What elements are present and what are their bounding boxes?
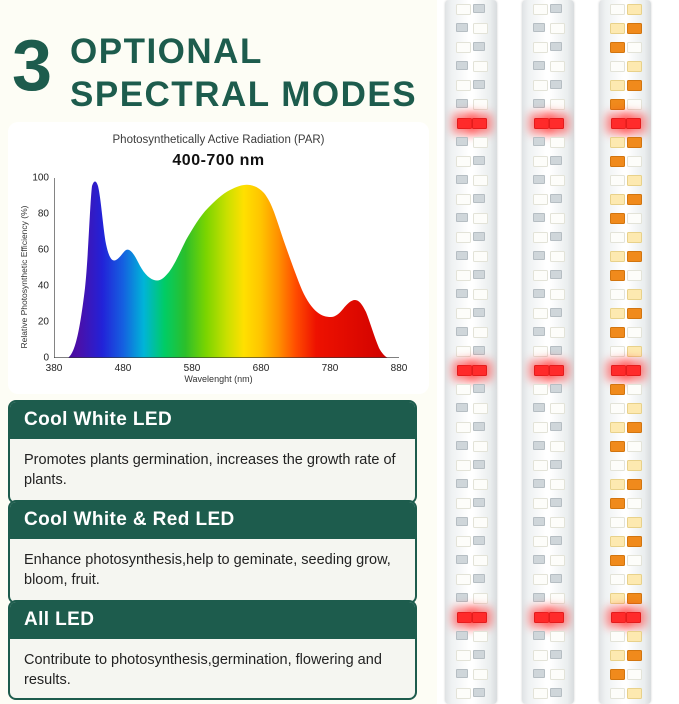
led-dot — [627, 99, 642, 110]
led-dot — [627, 61, 642, 72]
led-dot — [456, 327, 468, 336]
led-dot — [473, 346, 485, 355]
led-dot — [610, 327, 625, 338]
led-dot — [627, 555, 642, 566]
led-dot — [456, 631, 468, 640]
led-dot — [610, 498, 625, 509]
led-dot — [457, 118, 472, 129]
led-dot — [626, 612, 641, 623]
led-dot — [456, 403, 468, 412]
led-dot — [550, 479, 565, 490]
led-dot — [533, 688, 548, 699]
led-dot — [610, 232, 625, 243]
led-dot — [473, 669, 488, 680]
led-dot — [627, 669, 642, 680]
led-dot — [533, 403, 545, 412]
led-dot — [533, 346, 548, 357]
led-dot — [456, 422, 471, 433]
chart-xtick-780: 780 — [322, 363, 339, 374]
led-dot — [534, 612, 549, 623]
led-dot — [533, 194, 548, 205]
led-dot — [473, 327, 488, 338]
par-spectrum-chart: Photosynthetically Active Radiation (PAR… — [8, 122, 429, 394]
led-dot — [610, 441, 625, 452]
led-dot — [456, 61, 468, 70]
led-dot — [456, 194, 471, 205]
led-dot — [473, 137, 488, 148]
led-dot — [456, 99, 468, 108]
led-dot — [473, 631, 488, 642]
led-dot — [610, 23, 625, 34]
led-dot — [550, 460, 562, 469]
led-dot — [610, 593, 625, 604]
led-dot — [610, 403, 625, 414]
led-tube-cool-white-red — [445, 0, 497, 704]
led-dot — [472, 612, 487, 623]
led-dot — [610, 289, 625, 300]
led-dot — [550, 403, 565, 414]
led-dot — [550, 574, 562, 583]
led-dot — [456, 270, 471, 281]
led-dot — [627, 422, 642, 433]
led-dot — [611, 365, 626, 376]
led-dot — [473, 289, 488, 300]
chart-plot-area: 0 20 40 60 80 100 380 480 580 680 780 88… — [54, 178, 399, 358]
led-dot — [626, 365, 641, 376]
led-dot — [550, 99, 565, 110]
chart-xtick-380: 380 — [46, 363, 63, 374]
led-dot — [550, 175, 565, 186]
led-dot — [456, 441, 468, 450]
led-dot — [550, 631, 565, 642]
led-dot — [627, 213, 642, 224]
led-dot — [456, 555, 468, 564]
led-dot — [456, 574, 471, 585]
led-dot — [473, 194, 485, 203]
mode-description: Promotes plants germination, increases t… — [10, 439, 415, 502]
led-dot — [473, 384, 485, 393]
led-dot — [533, 175, 545, 184]
led-dot — [627, 80, 642, 91]
led-dot — [550, 137, 565, 148]
led-dot — [533, 555, 545, 564]
led-dot — [610, 479, 625, 490]
led-dot — [473, 251, 488, 262]
led-dot — [533, 270, 548, 281]
led-dot — [627, 42, 642, 53]
led-dot — [627, 441, 642, 452]
led-dot — [610, 460, 625, 471]
led-dot — [627, 384, 642, 395]
led-dot — [610, 574, 625, 585]
led-dot — [533, 327, 545, 336]
led-dot — [533, 4, 548, 15]
led-dot — [456, 517, 468, 526]
led-dot — [626, 118, 641, 129]
led-dot — [533, 422, 548, 433]
chart-area-path — [54, 182, 399, 359]
led-dot — [610, 346, 625, 357]
led-dot — [610, 669, 625, 680]
led-dot — [533, 137, 545, 146]
led-dot — [456, 498, 471, 509]
led-dot — [473, 517, 488, 528]
led-dot — [533, 308, 548, 319]
led-dot — [473, 308, 485, 317]
led-dot — [627, 517, 642, 528]
led-dot — [533, 232, 548, 243]
led-dot — [473, 213, 488, 224]
headline-text: OPTIONAL SPECTRAL MODES — [70, 30, 417, 116]
led-dot — [533, 669, 545, 678]
headline-number: 3 — [12, 30, 50, 102]
led-dot — [610, 137, 625, 148]
led-dot — [533, 251, 545, 260]
chart-y-axis-label: Relative Photosynthetic Efficiency (%) — [19, 182, 29, 372]
led-dot — [550, 555, 565, 566]
led-dot — [456, 42, 471, 53]
led-dot — [550, 688, 562, 697]
led-dot — [534, 118, 549, 129]
led-dot — [550, 270, 562, 279]
led-dot — [473, 688, 485, 697]
led-dot — [610, 80, 625, 91]
led-dot — [550, 593, 565, 604]
led-dot — [473, 479, 488, 490]
led-dot — [550, 61, 565, 72]
led-dot — [610, 194, 625, 205]
led-dot — [611, 612, 626, 623]
led-dot — [533, 80, 548, 91]
led-dot — [627, 327, 642, 338]
led-dot — [533, 384, 548, 395]
led-dot — [456, 175, 468, 184]
led-dot — [610, 308, 625, 319]
chart-xtick-680: 680 — [253, 363, 270, 374]
led-dot — [550, 327, 565, 338]
left-info-panel: 3 OPTIONAL SPECTRAL MODES Photosynthetic… — [0, 0, 437, 704]
led-dot — [456, 232, 471, 243]
chart-ytick-100: 100 — [32, 173, 49, 184]
led-dot — [533, 156, 548, 167]
led-dot — [472, 118, 487, 129]
led-dot — [550, 517, 565, 528]
led-dot — [533, 536, 548, 547]
led-dot — [610, 422, 625, 433]
chart-ytick-40: 40 — [38, 281, 49, 292]
led-dot — [533, 42, 548, 53]
led-dot — [473, 42, 485, 51]
led-dot — [456, 251, 468, 260]
chart-svg — [54, 178, 399, 358]
led-dot — [456, 384, 471, 395]
led-dot — [473, 80, 485, 89]
led-dot — [627, 631, 642, 642]
led-dot — [456, 4, 471, 15]
led-dot — [627, 23, 642, 34]
mode-title: Cool White & Red LED — [10, 502, 415, 539]
led-strip — [451, 0, 491, 704]
led-dot — [627, 593, 642, 604]
led-dot — [550, 4, 562, 13]
led-dot — [549, 612, 564, 623]
led-dot — [627, 308, 642, 319]
chart-ytick-60: 60 — [38, 245, 49, 256]
led-dot — [473, 403, 488, 414]
chart-xtick-880: 880 — [391, 363, 408, 374]
led-dot — [627, 460, 642, 471]
led-dot — [473, 156, 485, 165]
led-dot — [533, 650, 548, 661]
led-dot — [456, 346, 471, 357]
mode-card-cool-white-red: Cool White & Red LED Enhance photosynthe… — [8, 500, 417, 604]
led-dot — [550, 441, 565, 452]
mode-card-cool-white: Cool White LED Promotes plants germinati… — [8, 400, 417, 504]
led-dot — [456, 479, 468, 488]
led-dot — [456, 23, 468, 32]
led-dot — [473, 498, 485, 507]
led-dot — [456, 137, 468, 146]
led-dot — [627, 574, 642, 585]
led-dot — [610, 631, 625, 642]
led-dot — [610, 42, 625, 53]
led-dot — [610, 270, 625, 281]
led-dot — [456, 593, 468, 602]
led-dot — [550, 650, 562, 659]
led-dot — [473, 422, 485, 431]
led-dot — [533, 289, 545, 298]
led-dot — [456, 289, 468, 298]
led-dot — [627, 536, 642, 547]
led-dot — [610, 650, 625, 661]
chart-title: Photosynthetically Active Radiation (PAR… — [8, 134, 429, 146]
led-dot — [550, 498, 562, 507]
led-tube-gallery — [437, 0, 679, 704]
led-dot — [627, 232, 642, 243]
led-dot — [550, 23, 565, 34]
led-dot — [610, 536, 625, 547]
headline-line-1: OPTIONAL — [70, 30, 417, 73]
led-dot — [473, 536, 485, 545]
led-dot — [610, 251, 625, 262]
led-dot — [549, 365, 564, 376]
led-dot — [610, 156, 625, 167]
led-dot — [533, 593, 545, 602]
led-dot — [627, 479, 642, 490]
led-dot — [456, 460, 471, 471]
led-dot — [550, 289, 565, 300]
led-dot — [550, 251, 565, 262]
led-dot — [457, 365, 472, 376]
chart-xtick-580: 580 — [184, 363, 201, 374]
led-dot — [456, 308, 471, 319]
led-dot — [610, 688, 625, 699]
led-dot — [473, 555, 488, 566]
led-dot — [473, 650, 485, 659]
led-dot — [473, 4, 485, 13]
led-dot — [533, 517, 545, 526]
led-dot — [533, 498, 548, 509]
chart-x-axis-label: Wavelenght (nm) — [8, 374, 429, 384]
led-dot — [610, 175, 625, 186]
led-dot — [473, 99, 488, 110]
led-dot — [456, 156, 471, 167]
mode-title: Cool White LED — [10, 402, 415, 439]
led-dot — [456, 688, 471, 699]
led-dot — [550, 42, 562, 51]
led-dot — [473, 232, 485, 241]
led-dot — [610, 61, 625, 72]
led-dot — [550, 232, 562, 241]
led-dot — [627, 137, 642, 148]
led-dot — [533, 631, 545, 640]
led-dot — [472, 365, 487, 376]
led-dot — [610, 99, 625, 110]
led-dot — [533, 479, 545, 488]
led-dot — [473, 270, 485, 279]
led-dot — [627, 4, 642, 15]
led-dot — [473, 175, 488, 186]
led-dot — [627, 650, 642, 661]
led-dot — [627, 289, 642, 300]
led-dot — [550, 536, 562, 545]
led-dot — [610, 384, 625, 395]
led-dot — [610, 213, 625, 224]
headline-block: 3 OPTIONAL SPECTRAL MODES — [8, 16, 433, 116]
led-dot — [550, 156, 562, 165]
led-dot — [627, 403, 642, 414]
led-dot — [550, 346, 562, 355]
chart-subtitle: 400-700 nm — [8, 152, 429, 170]
led-dot — [627, 194, 642, 205]
led-dot — [611, 118, 626, 129]
chart-ytick-80: 80 — [38, 209, 49, 220]
led-strip — [528, 0, 568, 704]
led-dot — [456, 536, 471, 547]
led-dot — [627, 346, 642, 357]
led-dot — [550, 422, 562, 431]
led-dot — [456, 650, 471, 661]
led-tube-cool-white-red-2 — [522, 0, 574, 704]
led-dot — [533, 23, 545, 32]
led-dot — [533, 441, 545, 450]
chart-xtick-480: 480 — [115, 363, 132, 374]
led-dot — [627, 175, 642, 186]
led-dot — [627, 251, 642, 262]
led-dot — [456, 80, 471, 91]
led-dot — [610, 517, 625, 528]
led-dot — [456, 669, 468, 678]
led-dot — [550, 213, 565, 224]
led-dot — [610, 4, 625, 15]
led-dot — [473, 23, 488, 34]
led-dot — [534, 365, 549, 376]
led-dot — [610, 555, 625, 566]
led-dot — [533, 99, 545, 108]
mode-card-all-led: All LED Contribute to photosynthesis,ger… — [8, 600, 417, 700]
led-dot — [549, 118, 564, 129]
led-dot — [473, 593, 488, 604]
chart-ytick-0: 0 — [43, 353, 49, 364]
led-dot — [550, 384, 562, 393]
headline-line-2: SPECTRAL MODES — [70, 73, 417, 116]
led-strip — [605, 0, 645, 704]
led-dot — [627, 270, 642, 281]
chart-ytick-20: 20 — [38, 317, 49, 328]
led-dot — [550, 308, 562, 317]
mode-description: Contribute to photosynthesis,germination… — [10, 639, 415, 700]
led-dot — [456, 213, 468, 222]
led-dot — [473, 441, 488, 452]
led-dot — [473, 460, 485, 469]
led-dot — [550, 80, 562, 89]
led-dot — [533, 61, 545, 70]
led-dot — [473, 61, 488, 72]
led-dot — [627, 498, 642, 509]
led-dot — [627, 688, 642, 699]
led-dot — [550, 669, 565, 680]
led-dot — [457, 612, 472, 623]
mode-title: All LED — [10, 602, 415, 639]
led-dot — [550, 194, 562, 203]
led-dot — [533, 213, 545, 222]
led-dot — [627, 156, 642, 167]
led-dot — [533, 574, 548, 585]
led-tube-all-led — [599, 0, 651, 704]
led-dot — [473, 574, 485, 583]
mode-description: Enhance photosynthesis,help to geminate,… — [10, 539, 415, 602]
led-dot — [533, 460, 548, 471]
